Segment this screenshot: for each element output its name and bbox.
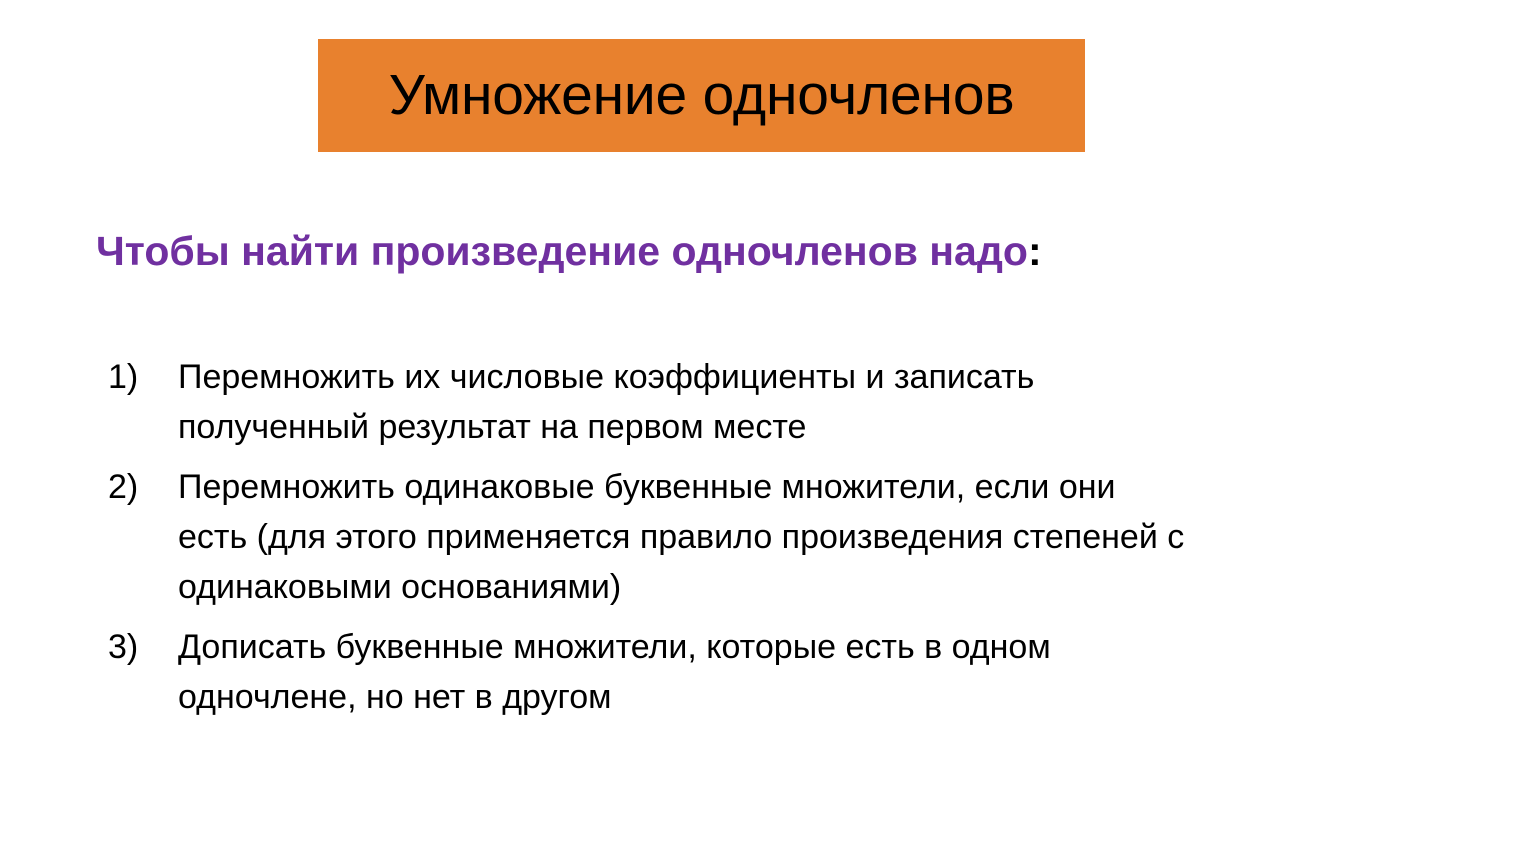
list-item: 2) Перемножить одинаковые буквенные множ… — [108, 462, 1418, 612]
list-item-line: Перемножить их числовые коэффициенты и з… — [178, 352, 1418, 402]
list-item-marker: 2) — [108, 462, 178, 512]
slide-canvas: Умножение одночленов Чтобы найти произве… — [0, 0, 1533, 864]
list-item-line: одночлене, но нет в другом — [178, 672, 1418, 722]
list-item-line: Дописать буквенные множители, которые ес… — [178, 622, 1418, 672]
list-item-line: Перемножить одинаковые буквенные множите… — [178, 462, 1418, 512]
title-banner: Умножение одночленов — [318, 39, 1085, 152]
numbered-list: 1) Перемножить их числовые коэффициенты … — [108, 352, 1418, 722]
slide-title: Умножение одночленов — [389, 66, 1015, 126]
list-item-line: одинаковыми основаниями) — [178, 562, 1418, 612]
lead-heading: Чтобы найти произведение одночленов надо… — [96, 228, 1042, 275]
list-item-line: есть (для этого применяется правило прои… — [178, 512, 1418, 562]
list-item: 3) Дописать буквенные множители, которые… — [108, 622, 1418, 722]
list-item-text: Дописать буквенные множители, которые ес… — [178, 622, 1418, 722]
list-item-marker: 3) — [108, 622, 178, 672]
lead-heading-text: Чтобы найти произведение одночленов надо — [96, 228, 1028, 274]
list-item-text: Перемножить их числовые коэффициенты и з… — [178, 352, 1418, 452]
lead-heading-colon: : — [1028, 228, 1042, 274]
list-item-marker: 1) — [108, 352, 178, 402]
list-item-line: полученный результат на первом месте — [178, 402, 1418, 452]
list-item-text: Перемножить одинаковые буквенные множите… — [178, 462, 1418, 612]
list-item: 1) Перемножить их числовые коэффициенты … — [108, 352, 1418, 452]
